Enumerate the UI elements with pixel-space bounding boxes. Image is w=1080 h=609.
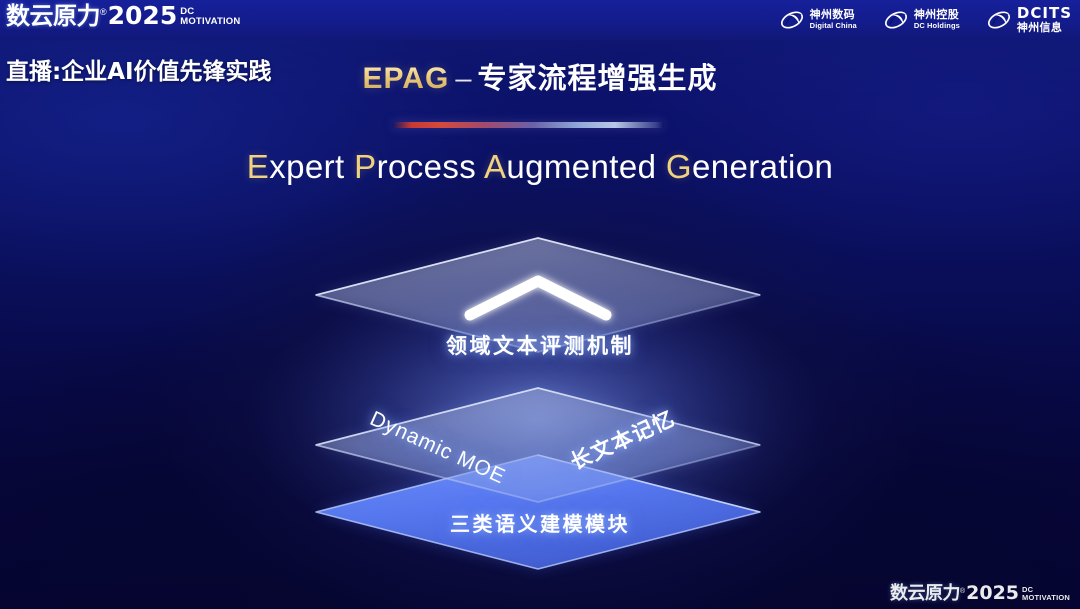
layer-bottom-label: 三类语义建模模块 xyxy=(0,508,1080,537)
swoosh-icon xyxy=(779,9,805,31)
page-title: EPAG–专家流程增强生成 xyxy=(0,55,1080,97)
brand-tagline-line2: MOTIVATION xyxy=(180,17,240,27)
subtitle-cap-p: P xyxy=(354,148,376,185)
diagram-layer-middle[interactable] xyxy=(316,388,760,502)
partner-name-en: Digital China xyxy=(810,22,857,30)
subtitle-rest-generation: eneration xyxy=(692,148,833,185)
partner-text: 神州数码 Digital China xyxy=(810,9,857,30)
partner-logo-dc-holdings: 神州控股 DC Holdings xyxy=(883,9,960,31)
partner-logo-digital-china: 神州数码 Digital China xyxy=(779,9,857,31)
watermark-name-cn: 数云原力 xyxy=(890,585,960,603)
brand-year: 2025 xyxy=(108,3,178,28)
brand-registered-mark: ® xyxy=(100,8,107,17)
partner-name-en: 神州信息 xyxy=(1017,22,1072,34)
partner-text: 神州控股 DC Holdings xyxy=(914,9,960,30)
layer-top-label: 领域文本评测机制 xyxy=(0,330,1080,360)
subtitle-rest-expert: xpert xyxy=(269,148,344,185)
brand-tagline: DC MOTIVATION xyxy=(180,7,240,26)
partner-logos: 神州数码 Digital China 神州控股 DC Holdings xyxy=(779,5,1072,34)
footer-watermark-logo: 数云原力 ® 2025 DC MOTIVATION xyxy=(890,584,1070,603)
subtitle-cap-a: A xyxy=(484,148,506,185)
swoosh-icon xyxy=(986,9,1012,31)
partner-name-cn: 神州控股 xyxy=(914,9,960,21)
subtitle-cap-g: G xyxy=(666,148,692,185)
watermark-tagline-line2: MOTIVATION xyxy=(1022,594,1070,602)
subtitle-rest-augmented: ugmented xyxy=(506,148,656,185)
watermark-registered-mark: ® xyxy=(960,588,965,595)
title-acronym: EPAG xyxy=(363,62,450,95)
brand-name-cn: 数云原力 xyxy=(6,4,100,28)
watermark-tagline: DC MOTIVATION xyxy=(1022,586,1070,601)
partner-logo-dcits: DCITS 神州信息 xyxy=(986,5,1072,34)
title-dash: – xyxy=(449,63,477,95)
layer-middle-plate xyxy=(316,388,760,502)
title-chinese: 专家流程增强生成 xyxy=(477,61,717,95)
watermark-year: 2025 xyxy=(966,584,1019,603)
partner-name-cn: 神州数码 xyxy=(810,9,857,21)
partner-name-cn: DCITS xyxy=(1017,5,1072,22)
partner-text: DCITS 神州信息 xyxy=(1017,5,1072,34)
subtitle-cap-e: E xyxy=(247,148,269,185)
subtitle-rest-process: rocess xyxy=(377,148,477,185)
presentation-slide: 数云原力 ® 2025 DC MOTIVATION 直播:企业AI价值先锋实践 … xyxy=(0,0,1080,609)
swoosh-icon xyxy=(883,9,909,31)
partner-name-en: DC Holdings xyxy=(914,22,960,30)
gradient-divider xyxy=(392,122,664,128)
brand-logo: 数云原力 ® 2025 DC MOTIVATION xyxy=(6,3,240,28)
subtitle: Expert Process Augmented Generation xyxy=(0,148,1080,186)
